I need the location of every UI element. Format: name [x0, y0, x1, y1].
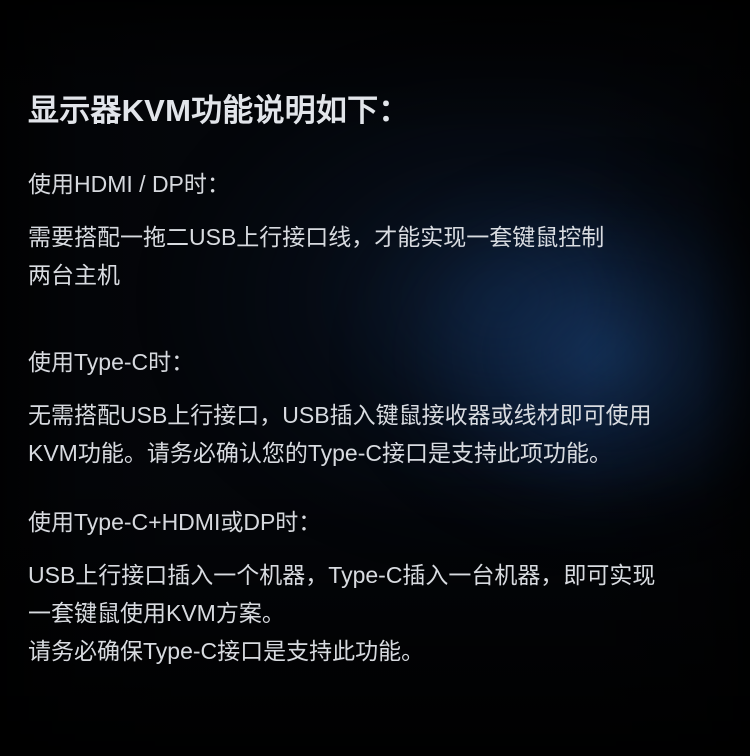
section-type-c-body: 无需搭配USB上行接口，USB插入键鼠接收器或线材即可使用 KVM功能。请务必确… [28, 396, 728, 472]
body-line: 一套键鼠使用KVM方案。 [28, 594, 728, 632]
body-line: 无需搭配USB上行接口，USB插入键鼠接收器或线材即可使用 [28, 396, 728, 434]
poster-content: 显示器KVM功能说明如下： 使用HDMI / DP时： 需要搭配一拖二USB上行… [0, 0, 750, 756]
section-hdmi-dp: 使用HDMI / DP时： 需要搭配一拖二USB上行接口线，才能实现一套键鼠控制… [28, 170, 728, 294]
page-title: 显示器KVM功能说明如下： [28, 93, 410, 129]
section-type-c: 使用Type-C时： 无需搭配USB上行接口，USB插入键鼠接收器或线材即可使用… [28, 348, 728, 472]
section-type-c-plus-hdmi-dp: 使用Type-C+HDMI或DP时： USB上行接口插入一个机器，Type-C插… [28, 508, 728, 670]
body-line: USB上行接口插入一个机器，Type-C插入一台机器，即可实现 [28, 556, 728, 594]
body-line: 两台主机 [28, 256, 728, 294]
kvm-info-poster: 显示器KVM功能说明如下： 使用HDMI / DP时： 需要搭配一拖二USB上行… [0, 0, 750, 756]
body-line: KVM功能。请务必确认您的Type-C接口是支持此项功能。 [28, 434, 728, 472]
section-type-c-heading: 使用Type-C时： [28, 348, 728, 376]
section-type-c-plus-hdmi-dp-body: USB上行接口插入一个机器，Type-C插入一台机器，即可实现 一套键鼠使用KV… [28, 556, 728, 670]
section-type-c-plus-hdmi-dp-heading: 使用Type-C+HDMI或DP时： [28, 508, 728, 536]
section-hdmi-dp-body: 需要搭配一拖二USB上行接口线，才能实现一套键鼠控制 两台主机 [28, 218, 728, 294]
section-hdmi-dp-heading: 使用HDMI / DP时： [28, 170, 728, 198]
body-line: 请务必确保Type-C接口是支持此功能。 [28, 632, 728, 670]
body-line: 需要搭配一拖二USB上行接口线，才能实现一套键鼠控制 [28, 218, 728, 256]
